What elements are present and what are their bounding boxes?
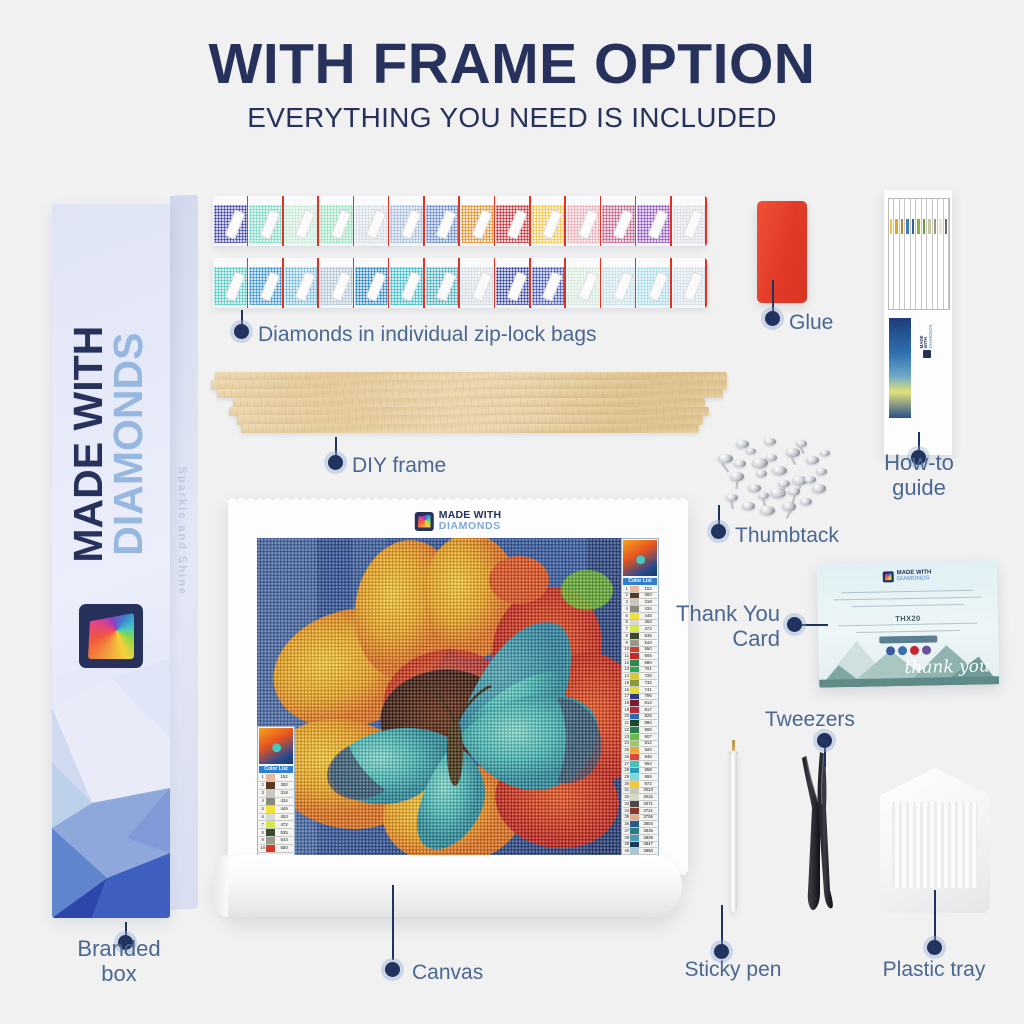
color-row-code: 728 bbox=[639, 674, 657, 678]
branded-box-product: Sparkle and Shine MADE WITH D bbox=[52, 196, 200, 926]
color-list-row: 8535 bbox=[259, 829, 293, 837]
color-row-code: 680 bbox=[639, 661, 657, 665]
color-row-swatch bbox=[630, 808, 639, 814]
ziplock-bag bbox=[319, 258, 354, 308]
thank-you-callout-dot bbox=[787, 617, 802, 632]
color-row-code: 907 bbox=[639, 735, 657, 739]
thumbtack-pin bbox=[735, 479, 738, 489]
callout-diy-frame: DIY frame bbox=[352, 454, 446, 478]
color-row-code: 3371 bbox=[639, 802, 657, 806]
color-list-thumbnail bbox=[259, 728, 293, 764]
color-row-swatch bbox=[630, 680, 639, 686]
color-row-swatch bbox=[630, 768, 639, 774]
ziplock-bag bbox=[284, 196, 319, 246]
bag-seal-line bbox=[705, 196, 707, 246]
callout-thank-you-card: Thank You Card bbox=[668, 601, 780, 652]
color-row-code: 606 bbox=[639, 654, 657, 658]
color-row-number: 31 bbox=[623, 788, 630, 792]
color-row-swatch bbox=[630, 747, 639, 753]
callout-sticky-pen: Sticky pen bbox=[675, 958, 791, 982]
diamond-mosaic-texture bbox=[257, 538, 659, 856]
color-row-swatch bbox=[266, 774, 275, 781]
color-row-code: 434 bbox=[275, 799, 293, 803]
color-row-number: 11 bbox=[623, 654, 630, 658]
guide-color-swatch bbox=[901, 219, 903, 234]
color-row-swatch bbox=[630, 599, 639, 605]
color-row-number: 5 bbox=[259, 807, 266, 811]
tweezers-product bbox=[796, 742, 842, 912]
color-row-number: 24 bbox=[623, 741, 630, 745]
color-row-swatch bbox=[266, 845, 275, 852]
ziplock-bag bbox=[636, 258, 671, 308]
color-row-swatch bbox=[630, 828, 639, 834]
color-row-code: 445 bbox=[639, 614, 657, 618]
color-row-number: 13 bbox=[623, 667, 630, 671]
color-row-number: 36 bbox=[623, 822, 630, 826]
color-row-number: 37 bbox=[623, 829, 630, 833]
color-row-number: 8 bbox=[259, 831, 266, 835]
ziplock-bag bbox=[672, 196, 707, 246]
ziplock-bag bbox=[566, 196, 601, 246]
brand-line-2: DIAMONDS bbox=[108, 204, 148, 714]
color-row-number: 6 bbox=[623, 620, 630, 624]
color-list-row: 22906 bbox=[623, 727, 657, 734]
ziplock-bag bbox=[213, 258, 248, 308]
card-handle-badge bbox=[879, 635, 937, 643]
color-row-code: 300 bbox=[275, 783, 293, 787]
tweezers-leader-line bbox=[824, 745, 826, 767]
ziplock-bag bbox=[601, 258, 636, 308]
thumbtack bbox=[718, 454, 733, 463]
color-row-swatch bbox=[630, 667, 639, 673]
pen-callout-dot bbox=[714, 944, 729, 959]
branded-box-front-panel: MADE WITH DIAMONDS bbox=[52, 204, 170, 918]
thumbtack bbox=[772, 466, 787, 475]
thumbtack bbox=[786, 448, 800, 457]
ziplock-bag bbox=[601, 196, 636, 246]
color-list-row: 26946 bbox=[623, 754, 657, 761]
thumbtack bbox=[736, 440, 749, 448]
color-row-swatch bbox=[630, 586, 639, 592]
color-row-number: 4 bbox=[259, 799, 266, 803]
card-logo: MADE WITH DIAMONDS bbox=[883, 570, 932, 584]
ziplock-bag bbox=[354, 196, 389, 246]
color-row-swatch bbox=[630, 720, 639, 726]
color-row-number: 9 bbox=[623, 641, 630, 645]
color-row-number: 3 bbox=[623, 600, 630, 604]
tiktok-icon bbox=[922, 646, 931, 655]
ziplock-bag bbox=[460, 258, 495, 308]
color-row-code: 543 bbox=[639, 641, 657, 645]
color-list-row: 10550 bbox=[259, 845, 293, 853]
pen-body bbox=[730, 752, 737, 912]
guide-color-swatch bbox=[923, 219, 925, 234]
canvas-logo-line-2: DIAMONDS bbox=[439, 521, 501, 533]
color-row-number: 34 bbox=[623, 809, 630, 813]
color-row-swatch bbox=[630, 801, 639, 807]
color-row-code: 3836 bbox=[639, 829, 657, 833]
color-list-row: 4434 bbox=[623, 606, 657, 613]
ziplock-bag bbox=[248, 196, 283, 246]
color-row-code: 959 bbox=[639, 775, 657, 779]
callout-plastic-tray: Plastic tray bbox=[864, 958, 1004, 982]
guide-table-column bbox=[944, 199, 949, 309]
guide-color-swatch bbox=[895, 219, 897, 234]
color-list-row: 5445 bbox=[259, 806, 293, 814]
color-row-number: 10 bbox=[623, 647, 630, 651]
ziplock-bag bbox=[460, 196, 495, 246]
color-row-number: 26 bbox=[623, 755, 630, 759]
canvas-callout-dot bbox=[385, 962, 400, 977]
color-row-number: 1 bbox=[623, 587, 630, 591]
color-row-code: 954 bbox=[639, 762, 657, 766]
color-row-swatch bbox=[630, 660, 639, 666]
color-row-number: 19 bbox=[623, 708, 630, 712]
color-row-code: 453 bbox=[275, 815, 293, 819]
color-row-number: 22 bbox=[623, 728, 630, 732]
guide-color-swatch bbox=[934, 219, 936, 234]
color-row-swatch bbox=[630, 647, 639, 653]
color-row-swatch bbox=[630, 633, 639, 639]
thumbtack bbox=[742, 502, 755, 510]
color-list-title: Color List bbox=[259, 766, 293, 773]
color-row-swatch bbox=[266, 837, 275, 844]
color-row-code: 318 bbox=[639, 600, 657, 604]
thumbtack bbox=[748, 484, 761, 492]
branded-box-side-panel: Sparkle and Shine bbox=[170, 194, 198, 910]
thumbtack-pin bbox=[792, 494, 796, 503]
color-row-number: 35 bbox=[623, 815, 630, 819]
ziplock-bag-row bbox=[213, 258, 707, 308]
color-row-number: 12 bbox=[623, 661, 630, 665]
color-row-number: 39 bbox=[623, 842, 630, 846]
ziplock-bag bbox=[389, 196, 424, 246]
color-row-code: 817 bbox=[639, 708, 657, 712]
canvas-artwork: Color List 11522300331844345445645374728… bbox=[257, 538, 659, 856]
glue-callout-dot bbox=[765, 311, 780, 326]
color-row-code: 906 bbox=[639, 728, 657, 732]
color-row-code: 535 bbox=[275, 831, 293, 835]
callout-tweezers: Tweezers bbox=[765, 708, 855, 732]
color-row-swatch bbox=[630, 694, 639, 700]
color-row-number: 33 bbox=[623, 802, 630, 806]
thumbtack bbox=[812, 484, 826, 493]
color-list-row: 9543 bbox=[259, 837, 293, 845]
page-title: WITH FRAME OPTION bbox=[0, 36, 1024, 93]
ziplock-bag bbox=[213, 196, 248, 246]
thumbtack bbox=[806, 456, 819, 464]
color-row-number: 32 bbox=[623, 795, 630, 799]
thumbtack bbox=[734, 460, 746, 467]
color-row-number: 1 bbox=[259, 775, 266, 779]
thumbtack bbox=[816, 468, 827, 475]
color-row-number: 21 bbox=[623, 721, 630, 725]
color-row-code: 912 bbox=[639, 741, 657, 745]
callout-diamonds-bags: Diamonds in individual zip-lock bags bbox=[258, 323, 597, 347]
color-row-number: 38 bbox=[623, 836, 630, 840]
color-row-number: 3 bbox=[259, 791, 266, 795]
color-row-code: 3756 bbox=[639, 815, 657, 819]
color-list-row: 373836 bbox=[623, 828, 657, 835]
color-row-number: 10 bbox=[259, 846, 266, 850]
callout-branded-box: Branded box bbox=[55, 936, 183, 987]
color-list-row: 403860 bbox=[623, 848, 657, 855]
frame-slat bbox=[241, 424, 699, 433]
thank-you-leader-line bbox=[800, 624, 828, 626]
ziplock-bag bbox=[531, 258, 566, 308]
card-thank-you-signature: thank you bbox=[904, 661, 990, 677]
page-subtitle: EVERYTHING YOU NEED IS INCLUDED bbox=[0, 104, 1024, 132]
ziplock-bags-group bbox=[213, 196, 707, 309]
color-list-row: 333371 bbox=[623, 801, 657, 808]
color-row-number: 17 bbox=[623, 694, 630, 698]
color-row-code: 3721 bbox=[639, 809, 657, 813]
color-row-code: 3860 bbox=[639, 849, 657, 853]
color-row-code: 796 bbox=[639, 694, 657, 698]
color-list-rows: 1152230033184434544564537472853595431055… bbox=[623, 586, 657, 855]
canvas-roll bbox=[214, 855, 682, 917]
color-row-number: 15 bbox=[623, 681, 630, 685]
color-list-row: 3318 bbox=[259, 790, 293, 798]
ziplock-bag-row bbox=[213, 196, 707, 246]
color-row-number: 14 bbox=[623, 674, 630, 678]
color-row-swatch bbox=[630, 761, 639, 767]
thumbtack bbox=[796, 440, 807, 447]
diy-frame-product bbox=[207, 368, 727, 448]
color-list-right: Color List 11522300331844345445645374728… bbox=[621, 538, 659, 856]
color-row-number: 40 bbox=[623, 849, 630, 853]
guide-color-swatch bbox=[906, 219, 908, 234]
thumbtack bbox=[800, 498, 812, 505]
color-row-code: 972 bbox=[639, 782, 657, 786]
color-row-swatch bbox=[630, 794, 639, 800]
color-list-row: 4434 bbox=[259, 798, 293, 806]
color-row-number: 20 bbox=[623, 714, 630, 718]
color-row-swatch bbox=[630, 673, 639, 679]
facebook-icon bbox=[886, 646, 895, 655]
color-row-code: 814 bbox=[639, 701, 657, 705]
card-social-icons bbox=[886, 646, 931, 656]
thumbtack bbox=[820, 450, 830, 456]
color-row-number: 2 bbox=[259, 783, 266, 787]
color-list-row: 11606 bbox=[623, 653, 657, 660]
callout-canvas: Canvas bbox=[412, 961, 483, 985]
color-row-swatch bbox=[630, 606, 639, 612]
thumbtack-product bbox=[712, 432, 840, 522]
guide-color-swatch bbox=[912, 219, 914, 234]
color-list-row: 15732 bbox=[623, 680, 657, 687]
callout-thumbtack: Thumbtack bbox=[735, 524, 839, 548]
infographic-canvas: WITH FRAME OPTION EVERYTHING YOU NEED IS… bbox=[0, 0, 1024, 1024]
guide-cover-photo bbox=[889, 318, 911, 418]
ziplock-bag bbox=[636, 196, 671, 246]
color-row-code: 3847 bbox=[639, 842, 657, 846]
ziplock-bag bbox=[495, 258, 530, 308]
thumbtack bbox=[756, 470, 767, 477]
bags-callout-dot bbox=[234, 324, 249, 339]
instagram-icon bbox=[898, 646, 907, 655]
ziplock-bag bbox=[531, 196, 566, 246]
color-row-swatch bbox=[630, 788, 639, 794]
canvas-logo: MADE WITH DIAMONDS bbox=[415, 510, 501, 532]
color-list-row: 2300 bbox=[259, 782, 293, 790]
thank-you-card-product: MADE WITH DIAMONDS THX20 thank you bbox=[817, 560, 999, 687]
color-row-swatch bbox=[266, 790, 275, 797]
color-row-code: 550 bbox=[639, 647, 657, 651]
ziplock-bag bbox=[354, 258, 389, 308]
guide-color-table bbox=[888, 198, 950, 310]
ziplock-bag bbox=[566, 258, 601, 308]
card-logo-line-2: DIAMONDS bbox=[897, 576, 932, 583]
thumbtack-pin bbox=[783, 486, 785, 495]
color-row-code: 453 bbox=[639, 620, 657, 624]
canvas-logo-line-1: MADE WITH bbox=[439, 510, 501, 521]
color-row-number: 25 bbox=[623, 748, 630, 752]
color-row-swatch bbox=[630, 734, 639, 740]
ziplock-bag bbox=[248, 258, 283, 308]
color-row-swatch bbox=[630, 781, 639, 787]
color-row-code: 472 bbox=[275, 823, 293, 827]
tray-leader-line bbox=[934, 890, 936, 942]
color-row-number: 16 bbox=[623, 688, 630, 692]
ziplock-bag bbox=[672, 258, 707, 308]
tweezers-callout-dot bbox=[817, 733, 832, 748]
color-row-swatch bbox=[630, 626, 639, 632]
frame-callout-dot bbox=[328, 455, 343, 470]
callout-glue: Glue bbox=[789, 311, 833, 335]
thumbtack bbox=[766, 454, 777, 461]
color-row-swatch bbox=[630, 754, 639, 760]
card-logo-mark bbox=[883, 571, 894, 582]
color-row-code: 445 bbox=[275, 807, 293, 811]
thumbtack bbox=[746, 448, 756, 454]
ziplock-bag bbox=[425, 258, 460, 308]
thumbtack-pin bbox=[721, 462, 729, 472]
color-row-code: 152 bbox=[275, 775, 293, 779]
callout-how-to-guide: How-to guide bbox=[858, 450, 980, 501]
color-list-thumbnail bbox=[623, 540, 657, 576]
color-row-swatch bbox=[630, 815, 639, 821]
color-row-code: 3839 bbox=[639, 836, 657, 840]
ziplock-bag bbox=[425, 196, 460, 246]
color-list-row: 1152 bbox=[259, 774, 293, 782]
color-row-code: 300 bbox=[639, 593, 657, 597]
guide-logo-line-2: DIAMONDS bbox=[929, 324, 934, 348]
color-row-code: 3804 bbox=[639, 822, 657, 826]
color-row-swatch bbox=[630, 687, 639, 693]
color-row-number: 7 bbox=[259, 823, 266, 827]
color-row-code: 543 bbox=[275, 838, 293, 842]
color-row-code: 741 bbox=[639, 688, 657, 692]
pinterest-icon bbox=[910, 646, 919, 655]
thumbtack-callout-dot bbox=[711, 524, 726, 539]
color-list-row: 6453 bbox=[259, 814, 293, 822]
color-row-number: 27 bbox=[623, 762, 630, 766]
color-row-number: 23 bbox=[623, 735, 630, 739]
color-row-swatch bbox=[266, 806, 275, 813]
color-row-swatch bbox=[630, 741, 639, 747]
color-row-swatch bbox=[266, 821, 275, 828]
canvas-leader-line bbox=[392, 885, 394, 960]
how-to-guide-product: MADE WITH DIAMONDS bbox=[884, 190, 952, 455]
guide-color-swatch bbox=[945, 219, 947, 234]
color-row-swatch bbox=[266, 814, 275, 821]
color-row-number: 18 bbox=[623, 701, 630, 705]
color-row-swatch bbox=[266, 798, 275, 805]
color-row-swatch bbox=[630, 714, 639, 720]
thumbtack-pin bbox=[730, 500, 733, 509]
bag-seal-line bbox=[705, 258, 707, 308]
thumbtack bbox=[764, 438, 776, 445]
color-row-swatch bbox=[630, 727, 639, 733]
color-row-number: 8 bbox=[623, 634, 630, 638]
canvas-product: MADE WITH DIAMONDS bbox=[228, 500, 688, 872]
color-row-number: 6 bbox=[259, 815, 266, 819]
color-row-swatch bbox=[630, 593, 639, 599]
color-row-code: 3032 bbox=[639, 795, 657, 799]
glue-leader-line bbox=[772, 280, 774, 313]
color-row-code: 958 bbox=[639, 768, 657, 772]
color-list-left: Color List 11522300331844345445645374728… bbox=[257, 726, 295, 856]
ziplock-bag bbox=[284, 258, 319, 308]
guide-color-swatch bbox=[939, 219, 941, 234]
guide-color-swatch bbox=[928, 219, 930, 234]
color-row-code: 472 bbox=[639, 627, 657, 631]
color-row-swatch bbox=[630, 620, 639, 626]
thumbtack bbox=[752, 458, 768, 468]
guide-color-swatch bbox=[917, 219, 919, 234]
color-row-code: 825 bbox=[639, 714, 657, 718]
glue-product bbox=[757, 201, 807, 303]
color-row-code: 535 bbox=[639, 634, 657, 638]
color-row-swatch bbox=[266, 829, 275, 836]
brand-wordmark: MADE WITH DIAMONDS bbox=[68, 204, 148, 714]
color-row-number: 2 bbox=[623, 593, 630, 597]
color-row-swatch bbox=[630, 821, 639, 827]
color-row-swatch bbox=[630, 842, 639, 848]
color-row-code: 434 bbox=[639, 607, 657, 611]
color-row-swatch bbox=[630, 613, 639, 619]
pen-ring bbox=[729, 751, 738, 755]
color-row-swatch bbox=[266, 782, 275, 789]
color-row-code: 732 bbox=[639, 681, 657, 685]
color-list-row: 7472 bbox=[259, 821, 293, 829]
color-row-number: 5 bbox=[623, 614, 630, 618]
color-row-number: 29 bbox=[623, 775, 630, 779]
guide-logo: MADE WITH DIAMONDS bbox=[920, 324, 934, 358]
tray-callout-dot bbox=[927, 940, 942, 955]
frame-slat bbox=[217, 389, 723, 398]
color-row-swatch bbox=[630, 640, 639, 646]
ziplock-bag bbox=[495, 196, 530, 246]
brand-tagline: Sparkle and Shine bbox=[176, 351, 188, 712]
color-row-code: 701 bbox=[639, 667, 657, 671]
sticky-pen-product bbox=[727, 738, 740, 914]
color-row-number: 9 bbox=[259, 838, 266, 842]
color-row-swatch bbox=[630, 848, 639, 854]
guide-color-swatch bbox=[890, 219, 892, 234]
color-row-code: 890 bbox=[639, 721, 657, 725]
color-row-code: 550 bbox=[275, 846, 293, 850]
canvas-logo-mark bbox=[415, 512, 434, 531]
thumbtack bbox=[804, 476, 816, 483]
pen-leader-line bbox=[721, 905, 723, 947]
color-row-number: 7 bbox=[623, 627, 630, 631]
color-list-row: 8535 bbox=[623, 633, 657, 640]
thumbtack bbox=[760, 506, 775, 515]
color-row-swatch bbox=[630, 774, 639, 780]
color-list-title: Color List bbox=[623, 578, 657, 585]
